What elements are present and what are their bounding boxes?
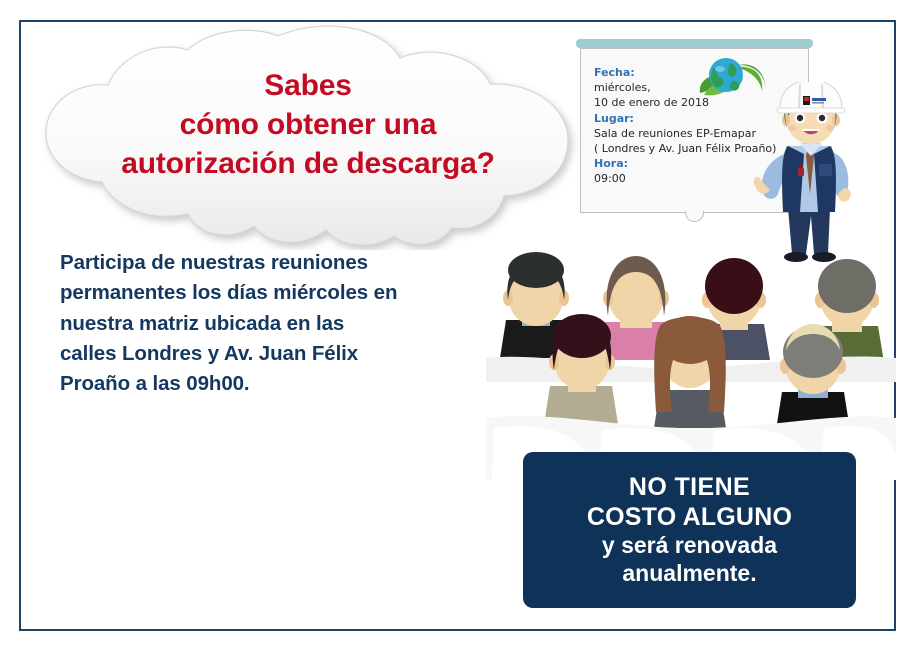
audience-illustration (486, 240, 896, 480)
callout-line-2: COSTO ALGUNO (587, 503, 792, 533)
cloud-text: Sabes cómo obtener una autorización de d… (28, 66, 588, 183)
screen-label-fecha: Fecha: (594, 65, 794, 80)
speech-cloud: Sabes cómo obtener una autorización de d… (28, 22, 588, 250)
poster-root: Sabes cómo obtener una autorización de d… (0, 0, 914, 651)
cloud-line-1: Sabes (28, 66, 588, 105)
body-line-5: Proaño a las 09h00. (60, 369, 480, 399)
audience-person-6 (654, 316, 726, 428)
callout-line-4: anualmente. (622, 560, 756, 587)
cloud-line-2: cómo obtener una (28, 105, 588, 144)
screen-top-bar (576, 39, 813, 48)
body-line-1: Participa de nuestras reuniones (60, 248, 480, 278)
screen-pull-knob (685, 211, 704, 222)
audience-row-2 (544, 314, 850, 430)
body-line-3: nuestra matriz ubicada en las (60, 309, 480, 339)
cost-callout: NO TIENE COSTO ALGUNO y será renovada an… (523, 452, 856, 608)
body-paragraph: Participa de nuestras reuniones permanen… (60, 248, 480, 400)
audience-person-5 (544, 314, 618, 424)
body-line-2: permanentes los días miércoles en (60, 278, 480, 308)
callout-line-3: y será renovada (602, 532, 777, 559)
body-line-4: calles Londres y Av. Juan Félix (60, 339, 480, 369)
callout-line-1: NO TIENE (629, 473, 750, 503)
cloud-line-3: autorización de descarga? (28, 144, 588, 183)
